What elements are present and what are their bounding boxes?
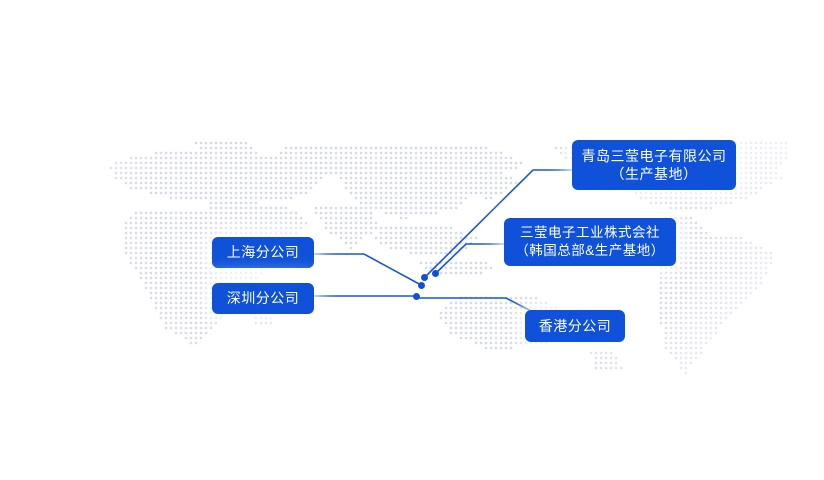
label-shenzhen-branch-text: 深圳分公司 [227, 289, 300, 307]
map-marker-shanghai[interactable] [418, 282, 425, 289]
map-marker-qingdao[interactable] [421, 274, 428, 281]
label-shanghai-branch[interactable]: 上海分公司 [212, 237, 314, 268]
label-korea-headquarters-text: 三莹电子工业株式会社 （韩国总部&生产基地） [515, 224, 665, 260]
label-hongkong-branch[interactable]: 香港分公司 [525, 310, 625, 342]
label-shanghai-branch-text: 上海分公司 [227, 243, 300, 261]
label-korea-headquarters[interactable]: 三莹电子工业株式会社 （韩国总部&生产基地） [504, 218, 676, 266]
label-qingdao[interactable]: 青岛三莹电子有限公司 （生产基地） [572, 140, 736, 190]
map-marker-korea[interactable] [432, 270, 439, 277]
world-map-dot-layer [0, 0, 824, 480]
world-map-infographic: 青岛三莹电子有限公司 （生产基地） 三莹电子工业株式会社 （韩国总部&生产基地）… [0, 0, 824, 480]
label-hongkong-branch-text: 香港分公司 [539, 317, 612, 335]
label-qingdao-text: 青岛三莹电子有限公司 （生产基地） [582, 147, 727, 184]
map-marker-shenzhen[interactable] [413, 293, 420, 300]
label-shenzhen-branch[interactable]: 深圳分公司 [212, 283, 314, 314]
